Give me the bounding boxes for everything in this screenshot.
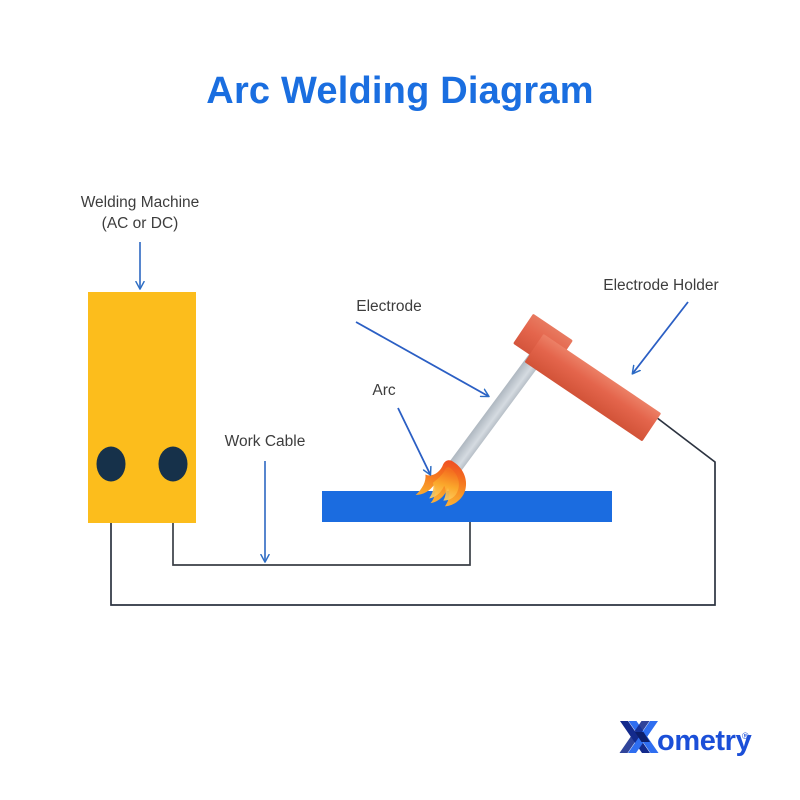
electrode-holder-label: Electrode Holder (603, 277, 718, 294)
machine-terminal-right[interactable] (159, 447, 188, 482)
annotation-arc: Arc (372, 382, 430, 474)
welding-machine-body (88, 292, 196, 523)
xometry-logo[interactable]: ometry ® (620, 721, 752, 757)
diagram-canvas: Arc Welding Diagram (0, 0, 800, 800)
annotation-welding-machine: Welding Machine (AC or DC) (81, 194, 200, 288)
welding-machine-label-line2: (AC or DC) (102, 215, 179, 232)
electrode-holder[interactable] (513, 314, 661, 442)
welding-machine-label-line1: Welding Machine (81, 194, 200, 211)
annotation-electrode-holder: Electrode Holder (603, 277, 718, 373)
workpiece-plate[interactable] (322, 491, 612, 522)
work-cable-label: Work Cable (225, 433, 306, 450)
machine-terminal-left[interactable] (97, 447, 126, 482)
arc-label: Arc (372, 382, 396, 399)
electrode-holder-handle (524, 334, 661, 442)
xometry-x-icon (620, 721, 659, 753)
electrode-label: Electrode (356, 298, 421, 315)
xometry-trademark: ® (742, 731, 749, 741)
welding-machine[interactable] (88, 292, 196, 523)
arc-welding-diagram: Arc Welding Diagram (0, 0, 800, 800)
electrode-holder-arrow (633, 302, 688, 373)
page-title: Arc Welding Diagram (206, 70, 593, 112)
annotation-work-cable: Work Cable (225, 433, 306, 561)
arc-arrow (398, 408, 430, 474)
xometry-wordmark: ometry (657, 725, 752, 757)
